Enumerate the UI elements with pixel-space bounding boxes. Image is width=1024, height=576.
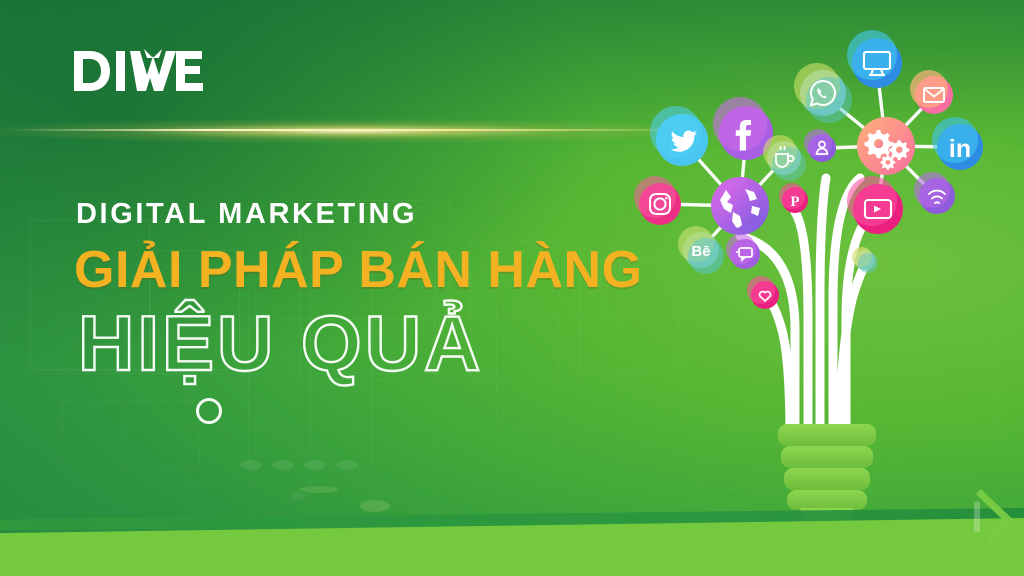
- grid-dot: [300, 486, 338, 493]
- grid-dot: [304, 460, 326, 470]
- brand-logo[interactable]: DIWE: [72, 48, 220, 94]
- headline-outline: HIỆU QUẢ: [78, 298, 483, 389]
- headline-primary: GIẢI PHÁP BÁN HÀNG: [74, 240, 643, 300]
- grid-dot: [290, 492, 306, 500]
- grid-dot: [240, 460, 262, 470]
- diwe-logo-icon: [72, 48, 220, 94]
- gold-light-streak: [0, 118, 740, 144]
- grid-dot: [336, 460, 358, 470]
- blueprint-block: [860, 300, 1000, 420]
- grid-dot: [360, 500, 390, 512]
- blueprint-block: [60, 400, 200, 470]
- headline-kicker: DIGITAL MARKETING: [76, 198, 417, 231]
- grid-ring-marker: [196, 398, 222, 424]
- gold-light-core: [10, 129, 710, 131]
- blueprint-block: [700, 430, 860, 490]
- grid-dot: [272, 460, 294, 470]
- banner-root: DIWE DIGITAL MARKETING GIẢI PHÁP BÁN HÀN…: [0, 0, 1024, 576]
